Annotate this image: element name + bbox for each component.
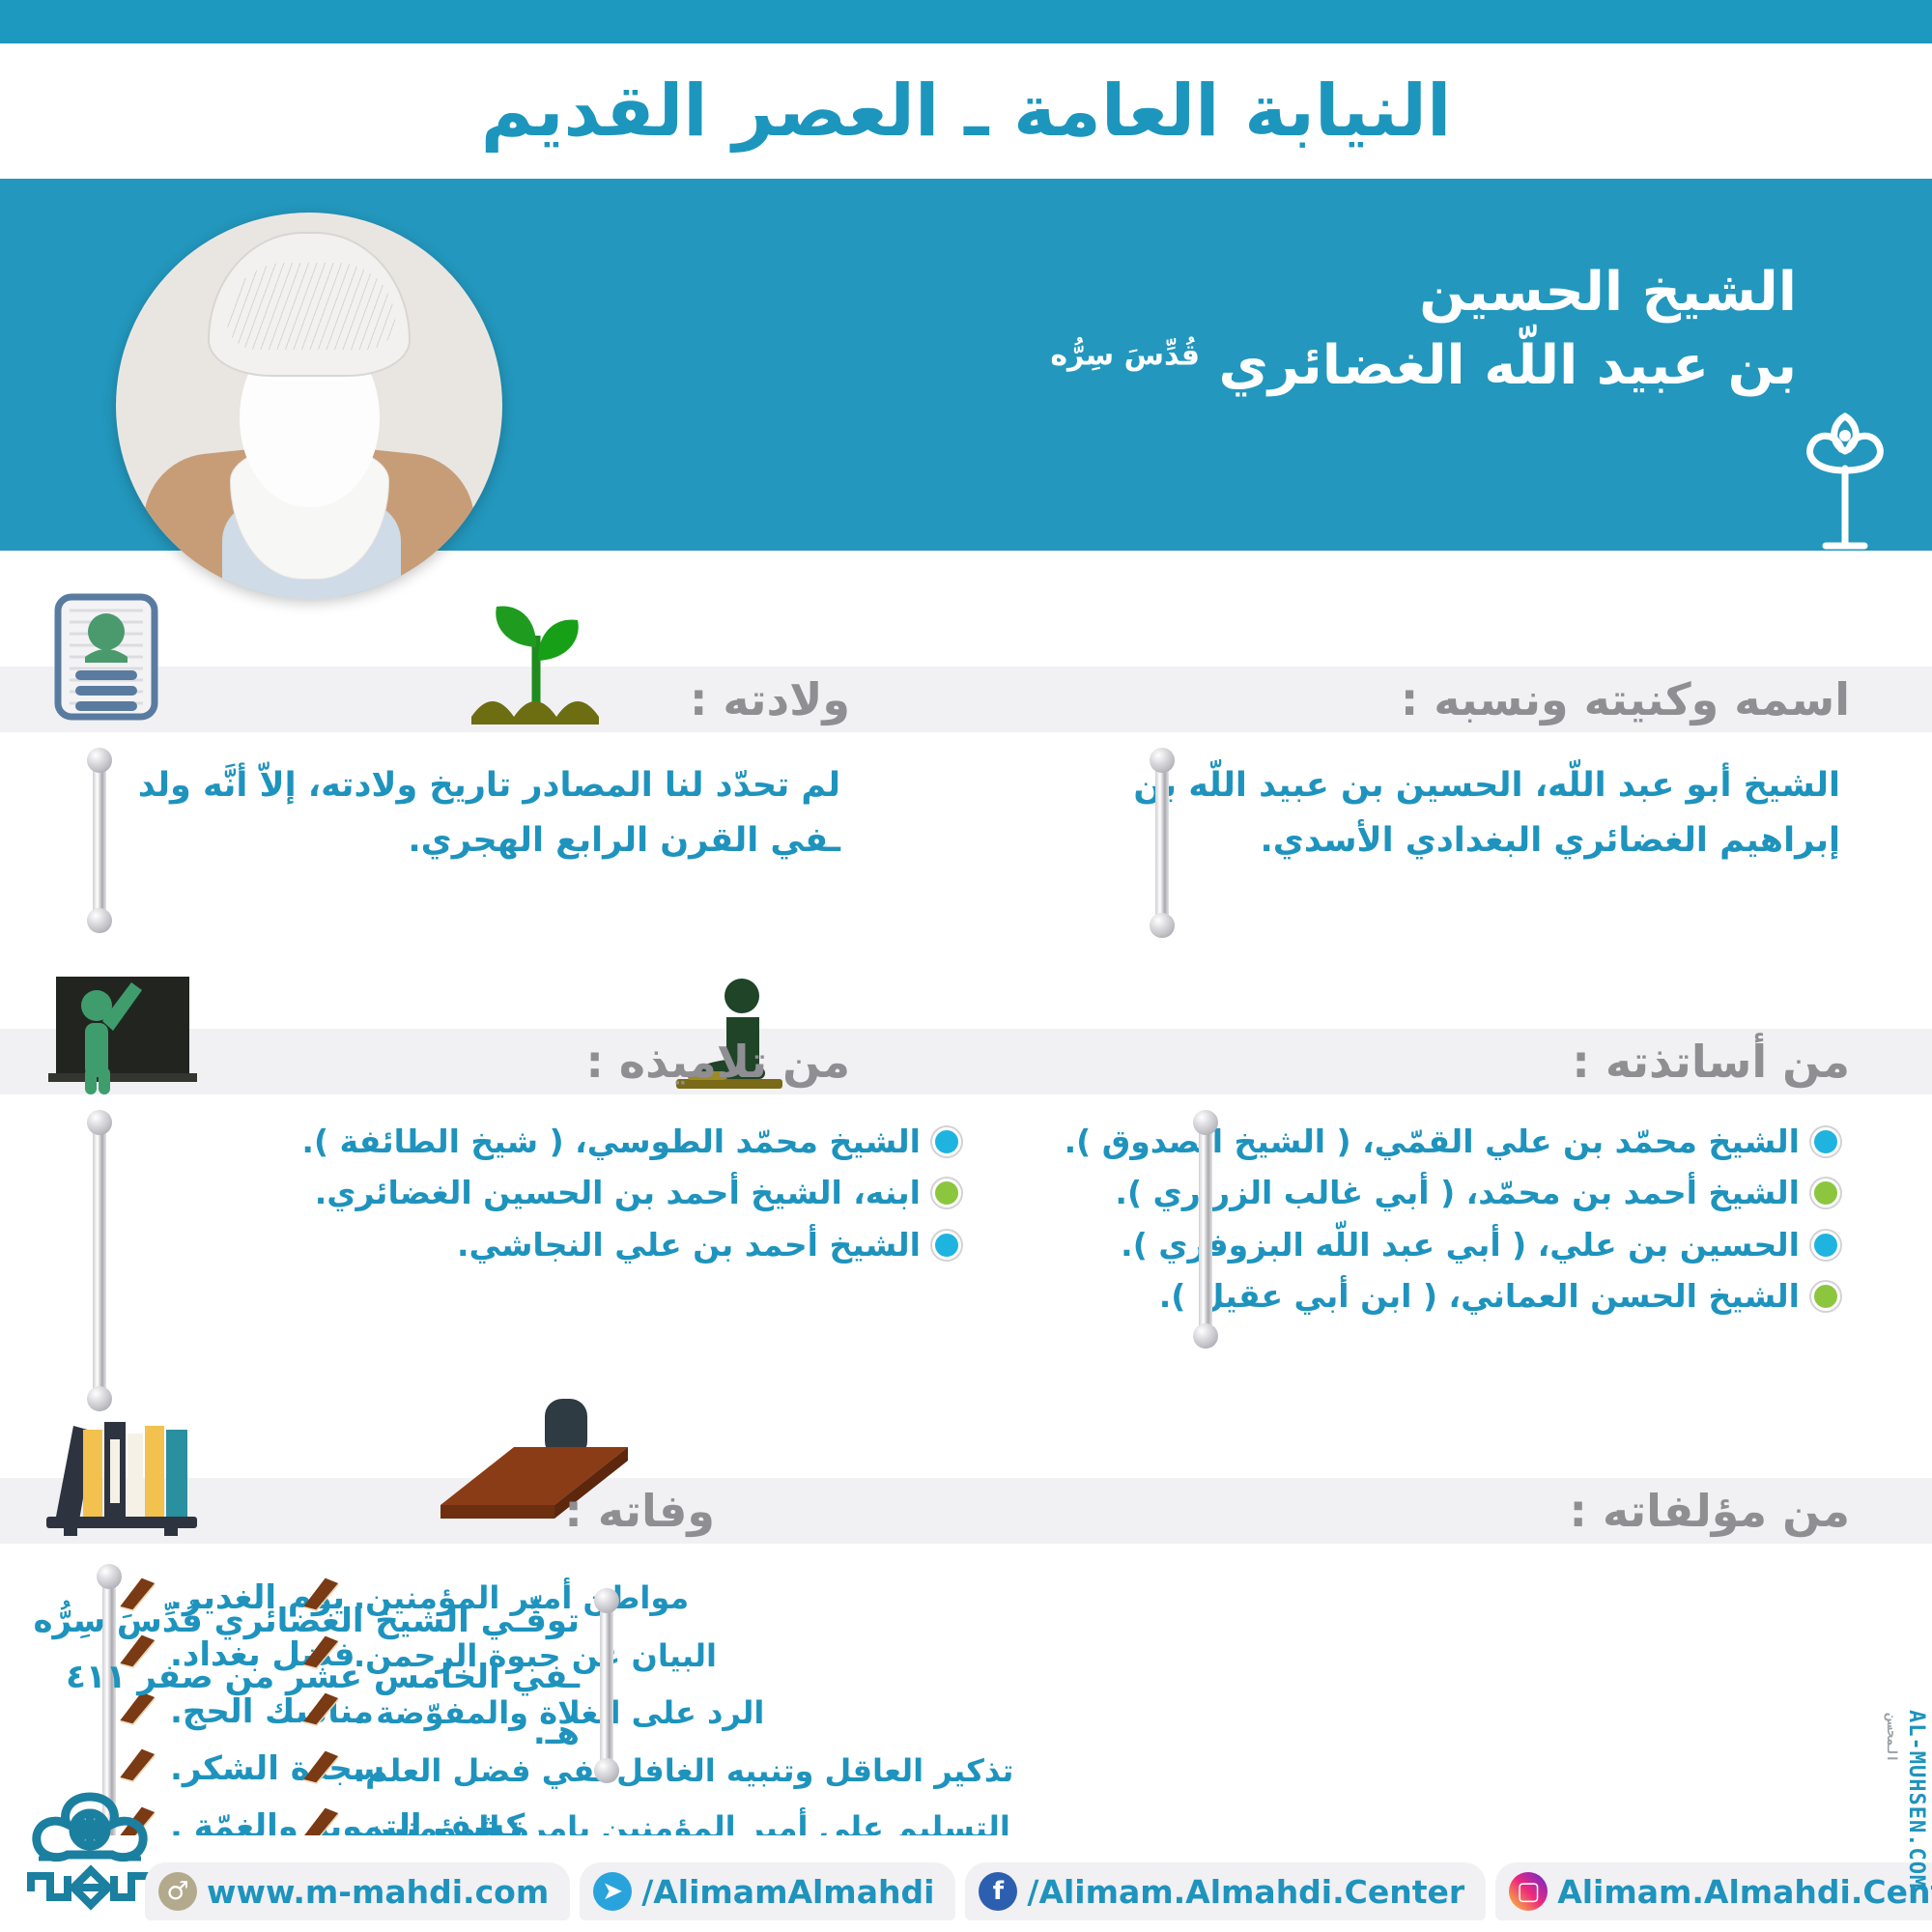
link-label: /AlimamAlmahdi	[641, 1873, 934, 1911]
list-item: الحسين بن علي، ( أبي عبد اللّه البزوفري …	[1038, 1219, 1840, 1270]
decorative-rod	[1155, 763, 1169, 923]
section-title-students: من تلاميذه :	[586, 1029, 850, 1094]
list-item: ابنه، الشيخ أحمد بن الحسين الغضائري.	[217, 1167, 961, 1218]
top-accent-band	[0, 0, 1932, 43]
scholar-name-line1: الشيخ الحسين	[734, 256, 1797, 329]
death-text: توفِّـي الشيخ الغضائري قُدِّسَ سِرُّه ـف…	[29, 1594, 580, 1761]
link-label: www.m-mahdi.com	[207, 1873, 549, 1911]
link-telegram[interactable]: ➤ /AlimamAlmahdi	[580, 1862, 955, 1920]
watermark-text: AL-MUHSEN.COM	[1904, 1710, 1928, 1889]
decorative-rod	[93, 1125, 106, 1396]
portrait-turban	[208, 232, 411, 377]
link-label: /Alimam.Almahdi.Center	[1027, 1873, 1464, 1911]
scholar-name-text: بن عبيد اللّه الغضائري	[1219, 334, 1798, 397]
bullet-icon	[1811, 1127, 1840, 1156]
al-mahdi-center-logo	[17, 1783, 162, 1928]
bullet-icon	[932, 1127, 961, 1156]
section-title-name: اسمه وكنيته ونسبه :	[1401, 667, 1850, 732]
page-title: النيابة العامة ـ العصر القديم	[481, 75, 1452, 147]
link-facebook[interactable]: f /Alimam.Almahdi.Center	[965, 1862, 1486, 1920]
student-name: ابنه، الشيخ أحمد بن الحسين الغضائري.	[315, 1167, 921, 1218]
list-item: الشيخ محمّد الطوسي، ( شيخ الطائفة ).	[217, 1116, 961, 1167]
title-strip: النيابة العامة ـ العصر القديم	[0, 43, 1932, 179]
list-item: الشيخ أحمد بن علي النجاشي.	[217, 1219, 961, 1270]
teacher-name: الحسين بن علي، ( أبي عبد اللّه البزوفري …	[1121, 1219, 1800, 1270]
student-name: الشيخ أحمد بن علي النجاشي.	[457, 1219, 921, 1270]
bullet-icon	[1811, 1282, 1840, 1311]
scholar-portrait	[116, 213, 502, 599]
site-watermark: AL-MUHSEN.COM المحسن	[1880, 1710, 1928, 1932]
floral-ornament-icon	[1787, 401, 1903, 555]
globe-icon: ♂	[158, 1872, 197, 1911]
teachers-list: الشيخ محمّد بن علي القمّي، ( الشيخ الصدو…	[1038, 1116, 1840, 1322]
bookshelf-icon	[39, 1401, 203, 1536]
infographic-page: النيابة العامة ـ العصر القديم الشيخ الحس…	[0, 0, 1932, 1932]
section-title-works: من مؤلفاته :	[1570, 1478, 1850, 1544]
watermark-text-ar: المحسن	[1884, 1714, 1899, 1763]
link-website[interactable]: ♂ www.m-mahdi.com	[145, 1862, 570, 1920]
facebook-icon: f	[979, 1872, 1017, 1911]
link-instagram[interactable]: ▢ Alimam.Almahdi.Center	[1495, 1862, 1932, 1920]
bullet-icon	[932, 1231, 961, 1260]
teacher-name: الشيخ محمّد بن علي القمّي، ( الشيخ الصدو…	[1065, 1116, 1800, 1167]
teacher-name: الشيخ أحمد بن محمّد، ( أبي غالب الزراري …	[1115, 1167, 1800, 1218]
student-name: الشيخ محمّد الطوسي، ( شيخ الطائفة ).	[301, 1116, 921, 1167]
social-links: ♂ www.m-mahdi.com ➤ /AlimamAlmahdi f /Al…	[145, 1862, 1932, 1920]
link-label: Alimam.Almahdi.Center	[1557, 1873, 1932, 1911]
instagram-icon: ▢	[1509, 1872, 1548, 1911]
scholar-name-line2: بن عبيد اللّه الغضائري قُدِّسَ سِرُّه	[734, 329, 1797, 403]
section-title-teachers: من أساتذته :	[1572, 1029, 1850, 1094]
teacher-name: الشيخ الحسن العماني، ( ابن أبي عقيل ).	[1159, 1270, 1800, 1321]
decorative-rod	[1199, 1125, 1212, 1333]
bullet-icon	[1811, 1231, 1840, 1260]
hero-banner: الشيخ الحسين بن عبيد اللّه الغضائري قُدِ…	[0, 179, 1932, 551]
section-title-death: وفاته :	[564, 1478, 715, 1544]
students-list: الشيخ محمّد الطوسي، ( شيخ الطائفة ). ابن…	[217, 1116, 961, 1270]
telegram-icon: ➤	[593, 1872, 632, 1911]
birth-text: لم تحدّد لنا المصادر تاريخ ولادته، إلاّ …	[68, 758, 840, 867]
bullet-icon	[932, 1179, 961, 1207]
decorative-rod	[600, 1604, 613, 1768]
list-item: الشيخ أحمد بن محمّد، ( أبي غالب الزراري …	[1038, 1167, 1840, 1218]
sprout-icon	[464, 589, 609, 724]
section-title-birth: ولادته :	[690, 667, 850, 732]
honorific-qudisa-sirruh: قُدِّسَ سِرُّه	[1050, 338, 1200, 372]
teacher-blackboard-icon	[39, 971, 203, 1096]
bullet-icon	[1811, 1179, 1840, 1207]
list-item: الشيخ محمّد بن علي القمّي، ( الشيخ الصدو…	[1038, 1116, 1840, 1167]
id-card-icon	[48, 589, 164, 724]
scholar-name-block: الشيخ الحسين بن عبيد اللّه الغضائري قُدِ…	[734, 256, 1797, 402]
list-item: الشيخ الحسن العماني، ( ابن أبي عقيل ).	[1038, 1270, 1840, 1321]
footer-bar: ♂ www.m-mahdi.com ➤ /AlimamAlmahdi f /Al…	[0, 1835, 1932, 1932]
